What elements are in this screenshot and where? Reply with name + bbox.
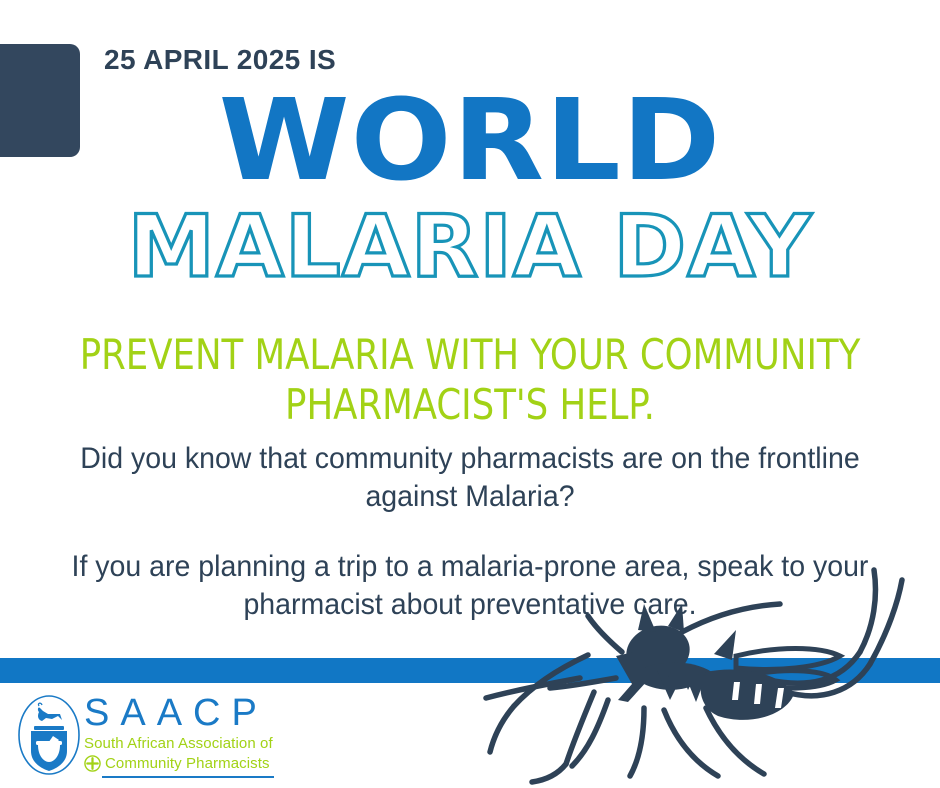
logo-tagline-line2: Community Pharmacists bbox=[105, 754, 270, 773]
logo-text-block: SAACP South African Association of Commu… bbox=[84, 694, 296, 773]
mosquito-icon bbox=[468, 560, 940, 788]
logo-acronym: SAACP bbox=[84, 694, 296, 732]
svg-text:MALARIA DAY: MALARIA DAY bbox=[128, 198, 813, 297]
logo-underline bbox=[102, 776, 274, 778]
saacp-logo: SAACP South African Association of Commu… bbox=[16, 694, 296, 780]
body-paragraph-1: Did you know that community pharmacists … bbox=[46, 440, 893, 516]
green-headline: PREVENT MALARIA WITH YOUR COMMUNITY PHAR… bbox=[66, 330, 874, 430]
logo-tagline-line2-row: Community Pharmacists bbox=[84, 754, 296, 773]
world-malaria-day-poster: 25 APRIL 2025 IS WORLD MALARIA DAY PREVE… bbox=[0, 0, 940, 788]
date-eyebrow: 25 APRIL 2025 IS bbox=[104, 44, 336, 76]
logo-tagline-line1: South African Association of bbox=[84, 734, 296, 753]
page-title-malaria-day: MALARIA DAY bbox=[0, 198, 940, 298]
pharmacy-shield-springbok-icon bbox=[16, 694, 82, 776]
medical-cross-circle-icon bbox=[84, 755, 101, 772]
page-title-world: WORLD bbox=[0, 85, 940, 197]
malaria-day-outline-text: MALARIA DAY bbox=[90, 198, 850, 298]
